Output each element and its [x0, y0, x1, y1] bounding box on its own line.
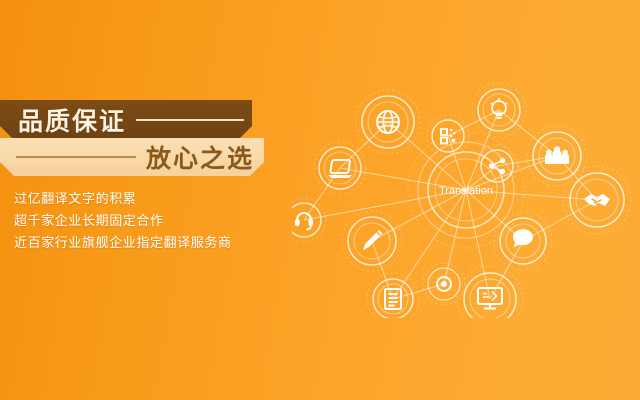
network-nodes	[292, 83, 631, 318]
banner-root: Translation	[0, 0, 640, 400]
ribbon-rule-dark	[16, 156, 136, 158]
node-pencil	[342, 211, 402, 271]
selling-point-3: 近百家行业旗舰企业指定翻译服务商	[14, 233, 314, 255]
center-node-translation: Translation	[408, 132, 524, 248]
node-handshake	[563, 166, 631, 234]
node-globe	[356, 90, 420, 154]
selling-point-2: 超千家企业长期固定合作	[14, 211, 314, 233]
selling-point-1: 过亿翻译文字的积累	[14, 189, 314, 211]
node-camera	[423, 263, 465, 305]
quality-ribbon: 品质保证 放心之选	[0, 100, 264, 176]
ribbon-rule-light	[136, 119, 244, 121]
ribbon-title-primary: 品质保证	[18, 102, 126, 138]
node-people-group	[527, 126, 587, 186]
ribbon-row-bottom: 放心之选	[0, 138, 264, 176]
node-document	[367, 273, 419, 318]
translation-network-graphic: Translation	[292, 78, 640, 318]
ribbon-row-top: 品质保证	[0, 100, 252, 140]
node-monitor	[457, 266, 523, 318]
center-node-label: Translation	[439, 185, 493, 197]
ribbon-title-secondary: 放心之选	[146, 139, 254, 175]
selling-points-list: 过亿翻译文字的积累 超千家企业长期固定合作 近百家行业旗舰企业指定翻译服务商	[14, 189, 314, 255]
